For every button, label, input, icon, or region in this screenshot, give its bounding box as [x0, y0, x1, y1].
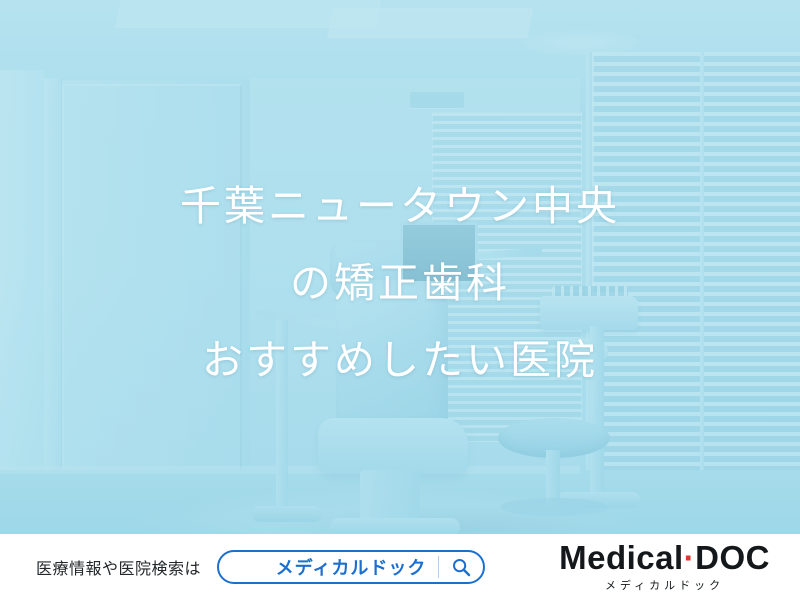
brand-subtitle: メディカルドック [559, 577, 770, 593]
bottom-branding-bar: 医療情報や医院検索は メディカルドック Medical·DOC メディカルドック [0, 534, 800, 600]
brand-name-accent-dot: · [684, 539, 696, 576]
brand-name: Medical·DOC [559, 541, 770, 574]
screenshot-root: 千葉ニュータウン中央 の矯正歯科 おすすめしたい医院 医療情報や医院検索は メデ… [0, 0, 800, 600]
brand-name-part1: Medical [559, 539, 684, 576]
brand-logo[interactable]: Medical·DOC メディカルドック [559, 541, 770, 593]
search-icon[interactable] [451, 557, 471, 577]
search-pill-divider [438, 556, 439, 578]
bottom-bar-lead-text: 医療情報や医院検索は [36, 555, 201, 579]
search-pill-button[interactable]: メディカルドック [217, 550, 485, 584]
search-pill-label: メディカルドック [276, 554, 427, 580]
brand-name-part2: DOC [695, 539, 770, 576]
page-title: 千葉ニュータウン中央 の矯正歯科 おすすめしたい医院 [0, 168, 800, 399]
